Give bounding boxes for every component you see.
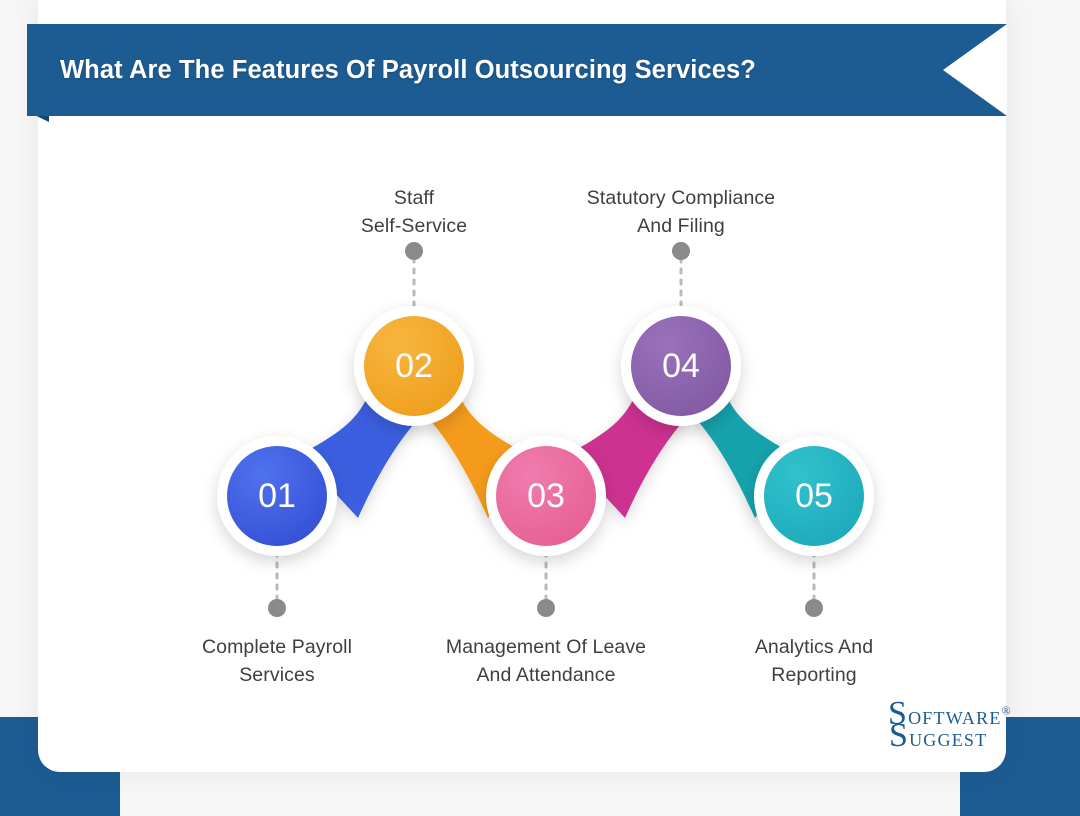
step-label-01: Complete Payroll Services (127, 633, 427, 689)
step-label-04-line1: Statutory Compliance (531, 184, 831, 212)
logo-line-2: Suggest (889, 725, 987, 753)
step-label-02-line1: Staff (264, 184, 564, 212)
page-title: What Are The Features Of Payroll Outsour… (60, 24, 756, 116)
logo-line-2-text: uggest (909, 725, 987, 752)
step-label-03-line2: And Attendance (396, 661, 696, 689)
step-label-05-line1: Analytics And (664, 633, 964, 661)
step-label-04-line2: And Filing (531, 212, 831, 240)
step-label-03-line1: Management Of Leave (396, 633, 696, 661)
infographic-canvas: What Are The Features Of Payroll Outsour… (0, 0, 1080, 816)
step-label-05-line2: Reporting (664, 661, 964, 689)
step-label-01-line2: Services (127, 661, 427, 689)
step-label-03: Management Of Leave And Attendance (396, 633, 696, 689)
logo-line-2-cap: S (889, 717, 909, 754)
title-ribbon: What Are The Features Of Payroll Outsour… (27, 24, 1007, 116)
step-label-05: Analytics And Reporting (664, 633, 964, 689)
step-label-01-line1: Complete Payroll (127, 633, 427, 661)
step-label-04: Statutory Compliance And Filing (531, 184, 831, 240)
softwaresuggest-logo: Software® Suggest (888, 703, 1028, 759)
step-label-02-line2: Self-Service (264, 212, 564, 240)
step-label-02: Staff Self-Service (264, 184, 564, 240)
registered-trademark-icon: ® (1002, 704, 1011, 718)
